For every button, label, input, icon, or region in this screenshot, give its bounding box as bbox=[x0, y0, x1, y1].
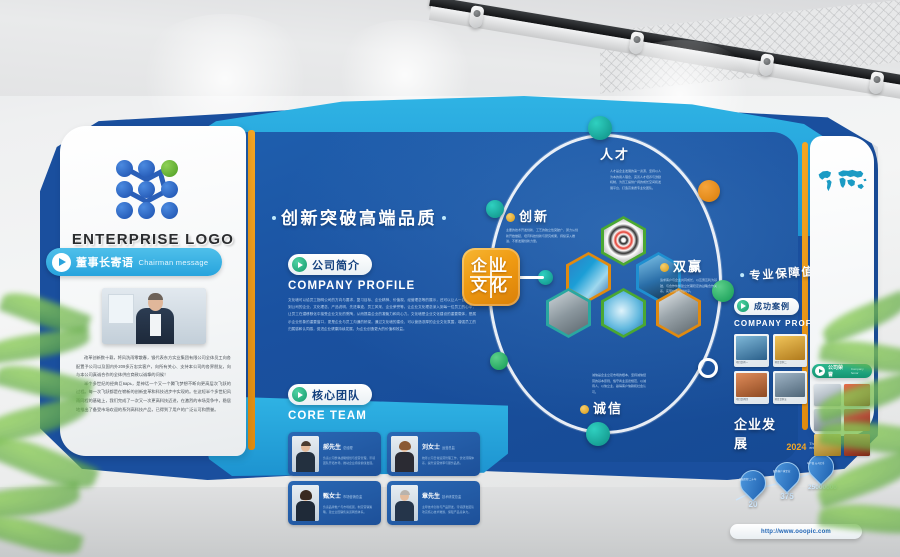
case-image bbox=[775, 373, 806, 397]
case-card[interactable]: 项目案例一 bbox=[734, 334, 769, 367]
case-card[interactable]: 项目案例四 bbox=[734, 371, 769, 404]
core-team-en: CORE TEAM bbox=[288, 410, 476, 422]
honor-cell[interactable] bbox=[844, 409, 871, 431]
case-caption: 项目案例二 bbox=[775, 361, 806, 365]
team-member-desc: 负责品牌推广与市场拓展，制定营销策略，建立全国销售渠道网络体系。 bbox=[323, 505, 377, 516]
honor-cn: 公司荣誉 bbox=[828, 364, 848, 378]
corporate-culture-diagram: 企业 文化 bbox=[460, 120, 760, 460]
chairman-message-label[interactable]: 董事长寄语 Chairman message bbox=[46, 248, 222, 276]
topic-title: 诚信 bbox=[580, 398, 648, 417]
development-cn: 企业发展 bbox=[734, 414, 783, 452]
pin-label: 年产值 元人民币 bbox=[804, 457, 828, 466]
company-profile-body: 文化墙可以给员工指明公司的方向与要求，复习目标、企业精神、价值观、经营理念等的展… bbox=[288, 297, 476, 333]
case-image bbox=[736, 336, 767, 360]
team-member-desc: 负责公司整体战略规划与经营管理，带领团队开拓市场，推动企业持续健康发展。 bbox=[323, 456, 377, 467]
topic-body: 人才是企业发展的第一资源，坚持以人为本的用人理念，完善人才培养与激励机制，为员工… bbox=[600, 169, 662, 192]
case-card[interactable]: 项目案例二 bbox=[773, 334, 808, 367]
honor-cell[interactable] bbox=[814, 409, 841, 431]
logo-text: ENTERPRISE LOGO bbox=[60, 231, 246, 248]
chairman-portrait bbox=[102, 288, 206, 344]
team-member-role: 运营总监 bbox=[442, 446, 455, 450]
bullet-icon bbox=[660, 263, 669, 272]
chairman-paragraph-2: 半个多世纪的经典巨варь，是神话一个又一个腾飞梦想不断向更高层次飞跃的过程。每… bbox=[76, 380, 231, 414]
pin-label: 服务客户 家企业 bbox=[770, 465, 794, 474]
milestone-pin[interactable]: 发展历程 二十年 20 bbox=[740, 470, 766, 509]
company-logo: ENTERPRISE LOGO bbox=[60, 160, 246, 248]
team-member-card[interactable]: 甄女士市场营销总监 负责品牌推广与市场拓展，制定营销策略，建立全国销售渠道网络体… bbox=[288, 481, 381, 525]
team-member-card[interactable]: 郝先生总经理 负责公司整体战略规划与经营管理，带领团队开拓市场，推动企业持续健康… bbox=[288, 432, 381, 476]
ring-node-upper-right bbox=[698, 180, 720, 202]
chairman-message-body: 改革创新数十载，将风洗雨零散春，锻代表东方实业集团有限公司全体员工向各配置予公司… bbox=[76, 354, 231, 470]
core-team-grid: 郝先生总经理 负责公司整体战略规划与经营管理，带领团队开拓市场，推动企业持续健康… bbox=[288, 432, 480, 525]
target-hexagon-icon bbox=[601, 216, 646, 266]
case-image bbox=[775, 336, 806, 360]
team-member-role: 市场营销总监 bbox=[343, 495, 362, 499]
pin-shape: 发展历程 二十年 bbox=[735, 465, 772, 502]
success-cases-label[interactable]: 成功案例 bbox=[734, 298, 799, 315]
case-caption: 项目案例四 bbox=[736, 398, 767, 402]
team-member-name: 刘女士 bbox=[422, 445, 440, 451]
culture-topic-winwin: 双赢 追求客户与企业共同成长，以互惠互利为基础，与合作伙伴建立长期稳定的战略合作… bbox=[660, 256, 722, 295]
avatar bbox=[292, 436, 319, 472]
core-team-section: 核心团队 CORE TEAM bbox=[288, 384, 476, 422]
case-caption: 项目案例一 bbox=[736, 361, 767, 365]
team-member-name: 章先生 bbox=[422, 494, 440, 500]
play-circle-icon bbox=[52, 253, 71, 272]
badge-connector-line bbox=[518, 276, 544, 279]
chairman-paragraph-1: 改革创新数十载，将风洗雨零散春，锻代表东方实业集团有限公司全体员工向各配置予公司… bbox=[76, 354, 231, 380]
core-team-cn: 核心团队 bbox=[312, 387, 360, 403]
avatar bbox=[292, 485, 319, 521]
company-honor-label[interactable]: 公司荣誉 Company honor bbox=[812, 364, 872, 378]
orange-divider-left bbox=[248, 130, 255, 450]
case-card[interactable]: 项目案例五 bbox=[773, 371, 808, 404]
play-circle-icon bbox=[815, 366, 825, 376]
left-white-card: ENTERPRISE LOGO 董事长寄语 Chairman message 改… bbox=[60, 126, 246, 456]
ring-node-bottom bbox=[586, 422, 610, 446]
team-member-role: 技术研发总监 bbox=[442, 495, 461, 499]
topic-title: 人才 bbox=[600, 144, 662, 163]
molecule-hexagon-icon bbox=[601, 288, 646, 338]
company-profile-cn: 公司简介 bbox=[312, 257, 360, 273]
topic-body: 主要的技术开发创新、工艺的独立性突破广，努力从创新开始做起，培育科技创新与研究成… bbox=[506, 228, 578, 245]
pin-shape: 服务客户 家企业 bbox=[769, 457, 806, 494]
topic-body: 追求客户与企业共同成长，以互惠互利为基础，与合作伙伴建立长期稳定的战略合作关系，… bbox=[660, 278, 722, 295]
team-member-name: 郝先生 bbox=[323, 445, 341, 451]
culture-topic-talent: 人才 人才是企业发展的第一资源，坚持以人为本的用人理念，完善人才培养与激励机制，… bbox=[600, 144, 662, 192]
world-map-icon bbox=[816, 150, 868, 210]
headline-dot-icon bbox=[442, 216, 446, 220]
topic-title: 创新 bbox=[506, 206, 578, 225]
avatar bbox=[391, 436, 418, 472]
honor-cell[interactable] bbox=[814, 434, 841, 456]
culture-wall-board: ENTERPRISE LOGO 董事长寄语 Chairman message 改… bbox=[40, 96, 878, 486]
culture-badge: 企业 文化 bbox=[462, 248, 520, 306]
office-culture-wall-scene: ENTERPRISE LOGO 董事长寄语 Chairman message 改… bbox=[0, 0, 900, 557]
play-circle-icon bbox=[737, 300, 749, 312]
development-year: 2024 bbox=[786, 442, 806, 452]
honor-cell[interactable] bbox=[814, 384, 841, 406]
core-team-label[interactable]: 核心团队 bbox=[288, 384, 372, 405]
honor-cell[interactable] bbox=[844, 384, 871, 406]
milestone-pin[interactable]: 年产值 元人民币 25000000 bbox=[808, 454, 834, 491]
network-dots-logo-icon bbox=[114, 160, 192, 222]
website-url: http://www.ooopic.com bbox=[761, 529, 831, 535]
honor-en: Company honor bbox=[851, 367, 872, 375]
main-headline-text: 创新突破高端品质 bbox=[281, 209, 437, 228]
website-url-bar[interactable]: http://www.ooopic.com bbox=[730, 524, 862, 539]
headline-dot-icon bbox=[740, 273, 744, 277]
play-circle-icon bbox=[292, 257, 307, 272]
play-circle-icon bbox=[292, 387, 307, 402]
bullet-icon bbox=[506, 213, 515, 222]
milestone-pins: 发展历程 二十年 20 服务客户 家企业 375 年产值 元人民币 250000… bbox=[734, 456, 854, 508]
honor-cell[interactable] bbox=[844, 434, 871, 456]
company-profile-label[interactable]: 公司简介 bbox=[288, 254, 372, 275]
bullet-icon bbox=[580, 405, 589, 414]
honor-grid bbox=[814, 384, 870, 456]
ring-node-top bbox=[588, 116, 612, 140]
team-member-role: 总经理 bbox=[343, 446, 353, 450]
team-member-name: 甄女士 bbox=[323, 494, 341, 500]
culture-topic-integrity: 诚信是企业立足市场的根本，坚持诚信经营的基本原则，恪守商业道德规范，以诚待人，以… bbox=[580, 370, 648, 417]
ring-node-lower-right bbox=[698, 358, 718, 378]
team-member-desc: 主导技术创新与产品研发，带领研发团队攻克核心技术难题，保障产品竞争力。 bbox=[422, 505, 476, 516]
chairman-label-cn: 董事长寄语 bbox=[76, 254, 134, 270]
pin-label: 发展历程 二十年 bbox=[736, 473, 760, 482]
case-caption: 项目案例五 bbox=[775, 398, 806, 402]
topic-body: 诚信是企业立足市场的根本，坚持诚信经营的基本原则，恪守商业道德规范，以诚待人，以… bbox=[580, 373, 648, 396]
company-profile-section: 公司简介 COMPANY PROFILE 文化墙可以给员工指明公司的方向与要求，… bbox=[288, 254, 476, 333]
avatar bbox=[391, 485, 418, 521]
culture-topic-innovation: 创新 主要的技术开发创新、工艺的独立性突破广，努力从创新开始做起，培育科技创新与… bbox=[506, 206, 578, 245]
company-profile-en: COMPANY PROFILE bbox=[288, 280, 476, 292]
team-member-card[interactable]: 章先生技术研发总监 主导技术创新与产品研发，带领研发团队攻克核心技术难题，保障产… bbox=[387, 481, 480, 525]
ring-node-upper-left bbox=[486, 200, 504, 218]
topic-title: 双赢 bbox=[660, 256, 722, 275]
case-image bbox=[736, 373, 767, 397]
milestone-pin[interactable]: 服务客户 家企业 375 bbox=[774, 462, 800, 501]
chairman-label-en: Chairman message bbox=[139, 258, 209, 267]
ring-node-lower-left bbox=[490, 352, 508, 370]
headline-dot-icon bbox=[272, 216, 276, 220]
success-cases-cn: 成功案例 bbox=[754, 301, 790, 312]
